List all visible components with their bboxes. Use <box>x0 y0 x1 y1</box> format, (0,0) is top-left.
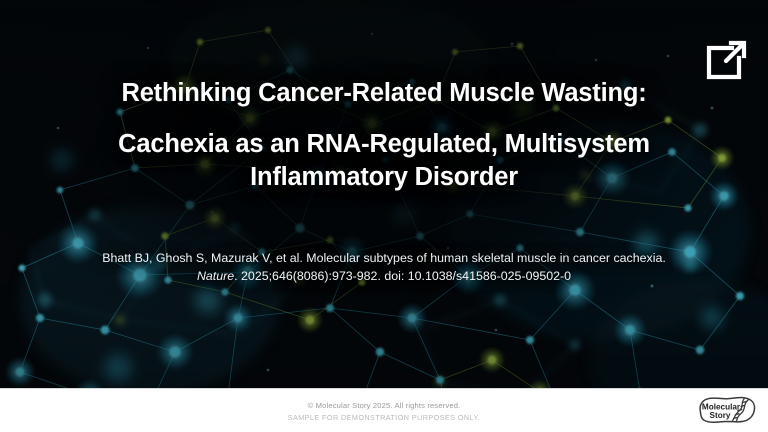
title-line-2: Cachexia as an RNA-Regulated, Multisyste… <box>36 131 732 159</box>
citation-text: Bhatt BJ, Ghosh S, Mazurak V, et al. Mol… <box>0 250 768 286</box>
citation-authors-title: Bhatt BJ, Ghosh S, Mazurak V, et al. Mol… <box>102 251 666 265</box>
external-link-icon[interactable] <box>702 36 750 84</box>
footer-text-group: © Molecular Story 2025. All rights reser… <box>0 389 768 432</box>
network-background-image <box>0 0 768 432</box>
footer-copyright: © Molecular Story 2025. All rights reser… <box>308 401 461 410</box>
title-line-3: Inflammatory Disorder <box>36 164 732 192</box>
citation-locator: . 2025;646(8086):973-982. doi: 10.1038/s… <box>234 269 571 283</box>
citation-journal-name: Nature <box>197 269 234 283</box>
logo-line-2: Story <box>710 411 731 420</box>
slide-title-block: Rethinking Cancer-Related Muscle Wasting… <box>0 80 768 192</box>
slide-footer: © Molecular Story 2025. All rights reser… <box>0 388 768 432</box>
footer-sample-notice: SAMPLE FOR DEMONSTRATION PURPOSES ONLY. <box>288 413 480 422</box>
title-line-1: Rethinking Cancer-Related Muscle Wasting… <box>36 80 732 108</box>
molecular-story-logo[interactable]: Molecular Story <box>696 392 758 428</box>
presentation-slide: Rethinking Cancer-Related Muscle Wasting… <box>0 0 768 432</box>
